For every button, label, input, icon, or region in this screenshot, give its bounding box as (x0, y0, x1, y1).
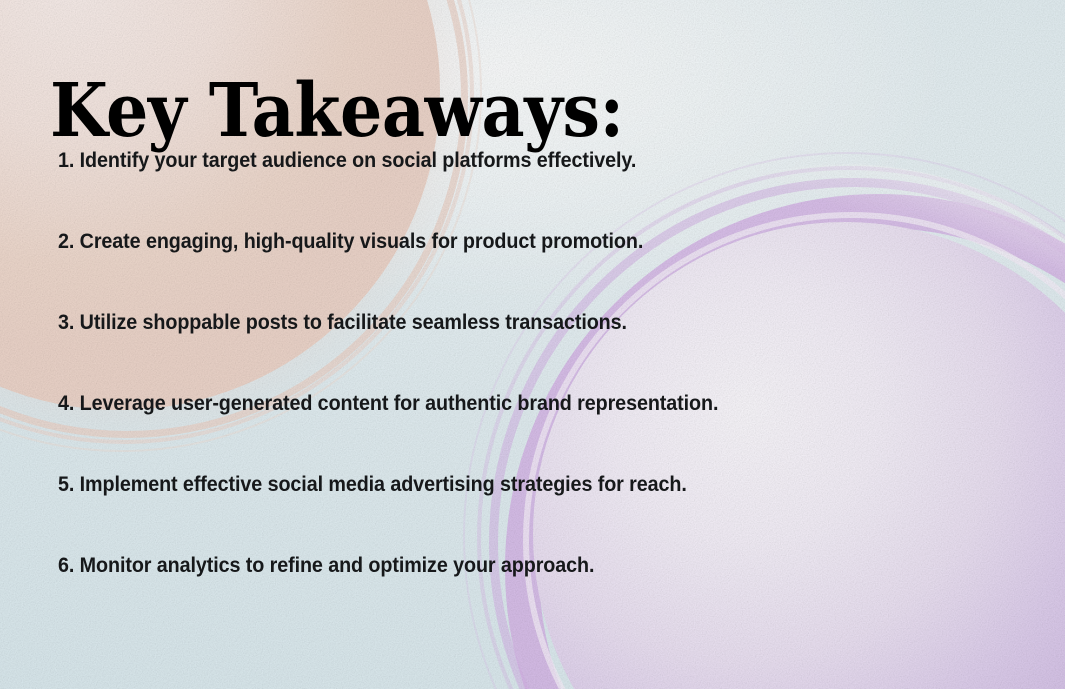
list-item: 4. Leverage user-generated content for a… (58, 393, 976, 414)
content-area: Key Takeaways: 1. Identify your target a… (0, 0, 1065, 689)
takeaways-graphic: Key Takeaways: 1. Identify your target a… (0, 0, 1065, 689)
list-item: 1. Identify your target audience on soci… (58, 150, 976, 171)
page-title: Key Takeaways: (50, 74, 624, 148)
list-item: 2. Create engaging, high-quality visuals… (58, 231, 976, 252)
list-item: 5. Implement effective social media adve… (58, 474, 976, 495)
takeaway-list: 1. Identify your target audience on soci… (58, 150, 1035, 576)
list-item: 3. Utilize shoppable posts to facilitate… (58, 312, 976, 333)
list-item: 6. Monitor analytics to refine and optim… (58, 555, 976, 576)
